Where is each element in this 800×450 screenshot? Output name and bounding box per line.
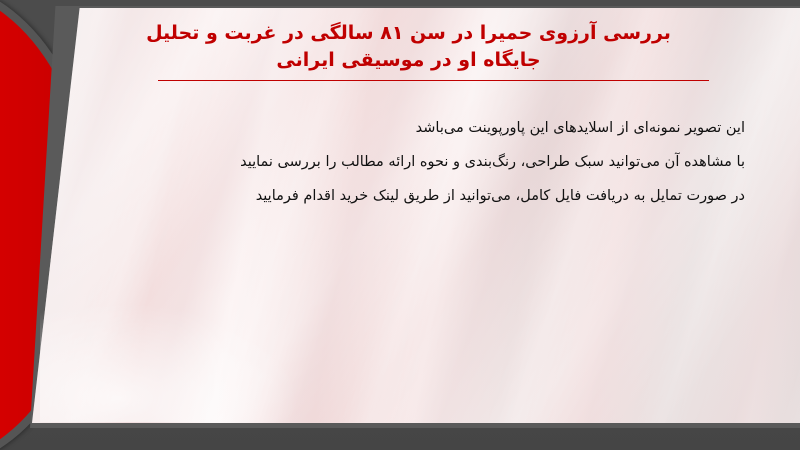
body-line-2: با مشاهده آن می‌توانید سبک طراحی، رنگ‌بن…	[60, 145, 745, 179]
slide-body: این تصویر نمونه‌ای از اسلایدهای این پاور…	[60, 111, 757, 213]
title-underline-rule	[158, 80, 709, 81]
slide-title-line-1: بررسی آرزوی حمیرا در سن ۸۱ سالگی در غربت…	[60, 20, 757, 47]
slide-title-line-2: جایگاه او در موسیقی ایرانی	[60, 47, 757, 74]
slide-content: بررسی آرزوی حمیرا در سن ۸۱ سالگی در غربت…	[60, 8, 775, 423]
body-line-3: در صورت تمایل به دریافت فایل کامل، می‌تو…	[60, 179, 745, 213]
body-line-1: این تصویر نمونه‌ای از اسلایدهای این پاور…	[60, 111, 745, 145]
slide-canvas: بررسی آرزوی حمیرا در سن ۸۱ سالگی در غربت…	[0, 0, 800, 450]
slide-title: بررسی آرزوی حمیرا در سن ۸۱ سالگی در غربت…	[60, 20, 757, 81]
